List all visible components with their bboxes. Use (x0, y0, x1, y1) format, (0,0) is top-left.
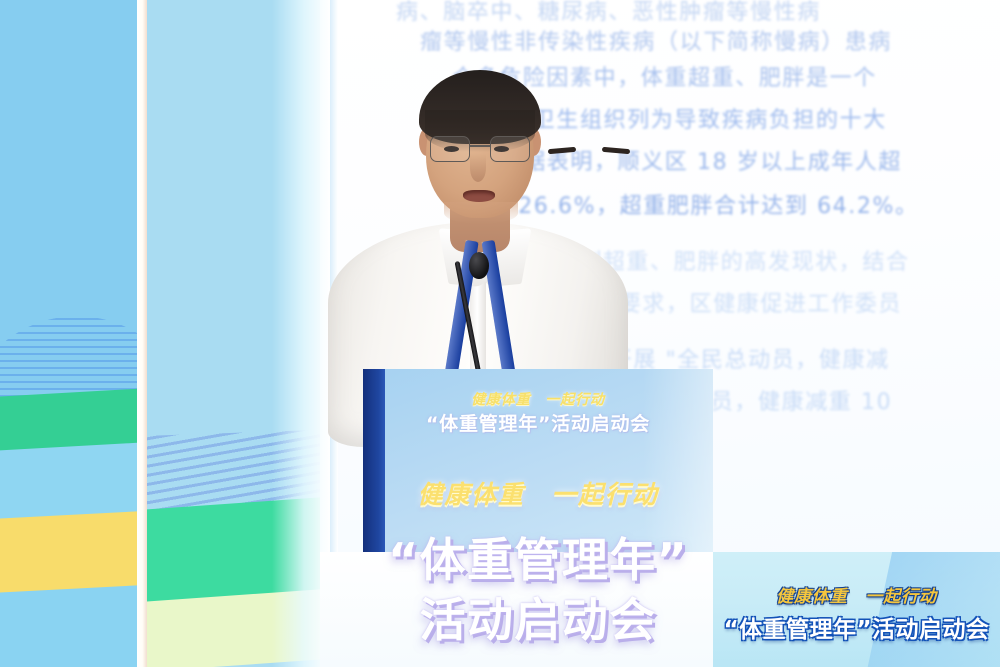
speaker-figure (318, 62, 638, 382)
glasses-bridge (470, 145, 490, 147)
panel-seam (137, 0, 147, 667)
podium-main-title-line1: “体重管理年” (363, 524, 713, 590)
chin-shadow (444, 202, 518, 224)
podium-small-slogan: 健康体重 一起行动 (363, 389, 713, 409)
slide-line: 瘤等慢性非传染性疾病（以下简称慢病）患病 (420, 32, 892, 54)
watermark-title: “体重管理年”活动启动会 (713, 610, 1000, 644)
lens-right (490, 136, 530, 162)
speaker-hair (419, 70, 541, 144)
backdrop-panel-left (0, 0, 137, 667)
nose (470, 154, 486, 182)
blue-wave-band (0, 583, 137, 667)
eyebrow-right (602, 147, 630, 154)
photo-scene: 病、脑卒中、糖尿病、恶性肿瘤等慢性病 瘤等慢性非传染性疾病（以下简称慢病）患病 … (0, 0, 1000, 667)
podium-small-title: “体重管理年”活动启动会 (363, 409, 713, 436)
eyebrow-left (548, 147, 576, 154)
podium-main-title-line2: 活动启动会 (363, 584, 713, 650)
yellow-wave-band (0, 509, 137, 598)
podium: 健康体重 一起行动 “体重管理年”活动启动会 健康体重 一起行动 “体重管理年”… (363, 369, 713, 667)
watermark-banner: 健康体重 一起行动 “体重管理年”活动启动会 (713, 552, 1000, 667)
podium-main-slogan: 健康体重 一起行动 (363, 475, 713, 511)
watermark-slogan: 健康体重 一起行动 (713, 582, 1000, 607)
microphone-icon (469, 252, 489, 279)
slide-line: 病、脑卒中、糖尿病、恶性肿瘤等慢性病 (396, 2, 821, 24)
lens-left (430, 136, 470, 162)
mouth (463, 190, 495, 202)
